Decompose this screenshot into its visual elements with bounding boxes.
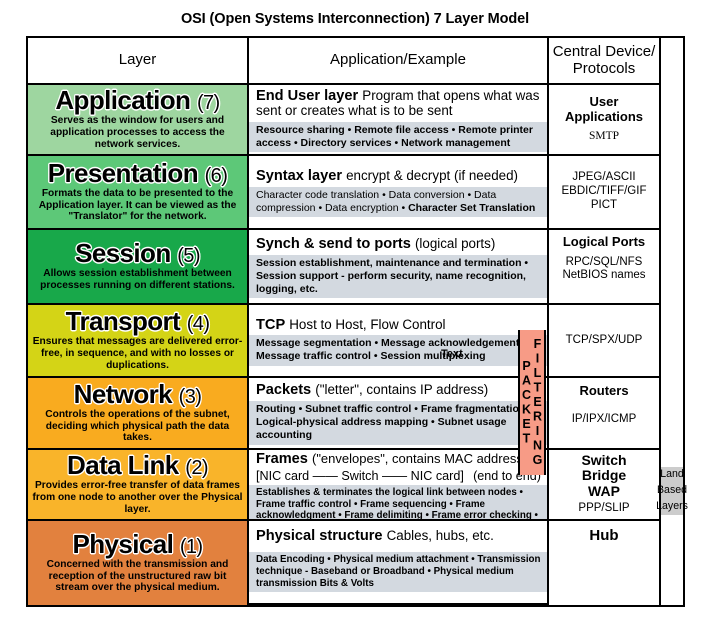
page-title: OSI (Open Systems Interconnection) 7 Lay… bbox=[0, 11, 710, 27]
layer-description-network: Controls the operations of the subnet, d… bbox=[32, 409, 243, 444]
layer-column: Layer Application (7) Serves as the wind… bbox=[28, 38, 247, 605]
example-details-transport: Message segmentation • Message acknowled… bbox=[249, 335, 547, 365]
header-layer: Layer bbox=[28, 38, 247, 85]
example-details-physical: Data Encoding • Physical medium attachme… bbox=[249, 552, 547, 592]
device-sub-transport: TCP/SPX/UDP bbox=[566, 334, 643, 348]
device-cell-transport: TCP/SPX/UDP bbox=[549, 305, 659, 378]
header-application-example: Application/Example bbox=[249, 38, 547, 85]
layer-name-presentation: Presentation (6) bbox=[48, 160, 228, 186]
layer-description-session: Allows session establishment between pro… bbox=[32, 268, 243, 292]
layer-cell-presentation: Presentation (6) Formats the data to be … bbox=[28, 156, 247, 230]
packet-filtering-band: PACKET FILTERING bbox=[518, 330, 546, 475]
layer-description-transport: Ensures that messages are delivered erro… bbox=[32, 336, 243, 371]
example-headline-presentation: Syntax layer encrypt & decrypt (if neede… bbox=[249, 167, 547, 187]
layer-description-application: Serves as the window for users and appli… bbox=[32, 115, 243, 150]
layer-name-session: Session (5) bbox=[75, 240, 200, 266]
example-details-application: Resource sharing • Remote file access • … bbox=[249, 122, 547, 152]
example-headline-physical: Physical structure Cables, hubs, etc. bbox=[249, 521, 547, 552]
layer-cell-application: Application (7) Serves as the window for… bbox=[28, 85, 247, 156]
device-cell-session: Logical Ports RPC/SQL/NFS NetBIOS names bbox=[549, 230, 659, 305]
layer-name-application: Application (7) bbox=[55, 87, 219, 113]
device-sub-network: IP/IPX/ICMP bbox=[572, 413, 637, 427]
example-headline-network: Packets ("letter", contains IP address) bbox=[249, 381, 547, 401]
layer-cell-physical: Physical (1) Concerned with the transmis… bbox=[28, 521, 247, 605]
layer-cell-transport: Transport (4) Ensures that messages are … bbox=[28, 305, 247, 378]
example-details-presentation: Character code translation • Data conver… bbox=[249, 187, 547, 217]
device-sub-application: SMTP bbox=[589, 130, 619, 144]
layer-name-network: Network (3) bbox=[74, 381, 202, 407]
stray-text-artifact: Text bbox=[441, 348, 463, 362]
layer-description-data-link: Provides error-free transfer of data fra… bbox=[32, 480, 243, 515]
layer-cell-network: Network (3) Controls the operations of t… bbox=[28, 378, 247, 450]
example-cell-presentation: Syntax layer encrypt & decrypt (if neede… bbox=[249, 156, 547, 230]
osi-model-diagram: OSI (Open Systems Interconnection) 7 Lay… bbox=[0, 0, 710, 619]
device-cell-network: Routers IP/IPX/ICMP bbox=[549, 378, 659, 450]
layer-name-physical: Physical (1) bbox=[73, 531, 203, 557]
example-headline-session: Synch & send to ports (logical ports) bbox=[249, 235, 547, 255]
example-details-session: Session establishment, maintenance and t… bbox=[249, 255, 547, 298]
example-headline-application: End User layer Program that opens what w… bbox=[249, 87, 547, 123]
device-cell-application: UserApplications SMTP bbox=[549, 85, 659, 156]
device-main-data-link: Switch Bridge WAP bbox=[581, 453, 626, 499]
osi-table: Layer Application (7) Serves as the wind… bbox=[26, 36, 685, 607]
device-sub-data-link: PPP/SLIP bbox=[578, 502, 629, 516]
example-cell-data-link: Frames ("envelopes", contains MAC addres… bbox=[249, 450, 547, 521]
layer-name-transport: Transport (4) bbox=[66, 308, 210, 334]
header-central-device: Central Device/ Protocols bbox=[549, 38, 659, 85]
device-sub-presentation: JPEG/ASCII EBDIC/TIFF/GIF PICT bbox=[562, 171, 647, 212]
layer-cell-session: Session (5) Allows session establishment… bbox=[28, 230, 247, 305]
land-based-spacer bbox=[661, 38, 683, 467]
device-main-application: UserApplications bbox=[565, 95, 643, 124]
example-cell-network: Packets ("letter", contains IP address) … bbox=[249, 378, 547, 450]
device-main-network: Routers bbox=[579, 384, 628, 399]
example-headline-transport: TCP Host to Host, Flow Control bbox=[249, 316, 547, 336]
example-note-data-link: [NIC card —— Switch —— NIC card] (end to… bbox=[249, 470, 547, 485]
central-device-column: Central Device/ Protocols UserApplicatio… bbox=[547, 38, 659, 605]
example-cell-session: Synch & send to ports (logical ports) Se… bbox=[249, 230, 547, 305]
layer-description-presentation: Formats the data to be presented to the … bbox=[32, 188, 243, 223]
example-details-data-link: Establishes & terminates the logical lin… bbox=[249, 485, 547, 521]
layer-name-data-link: Data Link (2) bbox=[67, 452, 208, 478]
device-main-physical: Hub bbox=[589, 528, 618, 545]
layer-description-physical: Concerned with the transmission and rece… bbox=[32, 559, 243, 594]
land-based-layers-column: Land Based Layers bbox=[659, 38, 683, 605]
land-based-layers-label: Land Based Layers bbox=[661, 467, 683, 515]
example-headline-data-link: Frames ("envelopes", contains MAC addres… bbox=[249, 450, 547, 470]
example-details-network: Routing • Subnet traffic control • Frame… bbox=[249, 401, 547, 444]
device-main-session: Logical Ports bbox=[563, 235, 645, 250]
application-example-column: Application/Example End User layer Progr… bbox=[247, 38, 547, 605]
example-cell-physical: Physical structure Cables, hubs, etc. Da… bbox=[249, 521, 547, 605]
layer-cell-data-link: Data Link (2) Provides error-free transf… bbox=[28, 450, 247, 521]
example-cell-transport: TCP Host to Host, Flow Control Message s… bbox=[249, 305, 547, 378]
example-cell-application: End User layer Program that opens what w… bbox=[249, 85, 547, 156]
device-cell-data-link: Switch Bridge WAP PPP/SLIP bbox=[549, 450, 659, 521]
device-sub-session: RPC/SQL/NFS NetBIOS names bbox=[562, 256, 645, 284]
device-cell-presentation: JPEG/ASCII EBDIC/TIFF/GIF PICT bbox=[549, 156, 659, 230]
device-cell-physical: Hub bbox=[549, 521, 659, 605]
packet-filtering-word-filtering: FILTERING bbox=[532, 337, 544, 468]
